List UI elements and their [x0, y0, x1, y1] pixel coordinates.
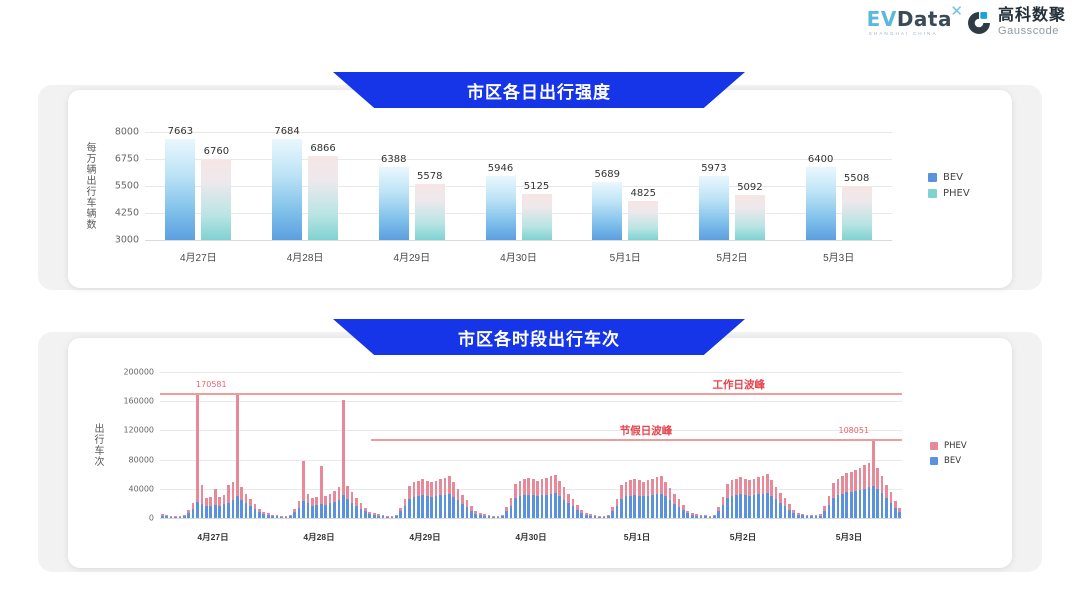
- chart-2-bar-segment-bev: [890, 503, 893, 518]
- chart-2-bar-segment-bev: [717, 511, 720, 518]
- chart-2-bar-segment-phev: [192, 503, 195, 509]
- chart-2-bar-segment-phev: [399, 508, 402, 512]
- chart-2-bar-segment-phev: [271, 515, 274, 516]
- chart-2-bar-segment-bev: [563, 500, 566, 518]
- chart-2-bar-segment-bev: [837, 495, 840, 518]
- chart-2-bar-segment-bev: [355, 506, 358, 518]
- chart-2-bar-segment-bev: [307, 503, 310, 518]
- chart-1-bar-value: 5973: [701, 163, 726, 174]
- chart-2-bar-segment-phev: [841, 476, 844, 494]
- chart-2-x-tick: 4月28日: [303, 531, 334, 543]
- chart-2-bar-segment-phev: [492, 516, 495, 517]
- chart-1-bar-bev: [592, 182, 622, 240]
- chart-2-bar-segment-phev: [850, 472, 853, 492]
- chart-1-bar-value: 6388: [381, 154, 406, 165]
- chart-2-legend-item[interactable]: BEV: [930, 456, 967, 466]
- chart-2-bar-segment-bev: [616, 506, 619, 518]
- chart-2-bar-segment-phev: [311, 498, 314, 505]
- chart-2-x-tick: 5月3日: [836, 531, 862, 543]
- chart-2-bar-segment-phev: [633, 479, 636, 495]
- chart-2-bar-segment-phev: [439, 479, 442, 495]
- chart-2-bar-segment-bev: [311, 506, 314, 518]
- chart-2-bar-segment-phev: [276, 515, 279, 516]
- chart-2-title: 市区各时段出行车次: [458, 325, 620, 350]
- chart-2-bar-segment-phev: [876, 468, 879, 489]
- chart-2-bar-segment-phev: [474, 511, 477, 514]
- chart-2-bar-segment-phev: [678, 499, 681, 506]
- chart-2-bar-segment-phev: [218, 497, 221, 506]
- chart-1-y-tick: 8000: [99, 127, 139, 138]
- chart-2-bar-segment-bev: [828, 505, 831, 518]
- chart-2-bar-segment-phev: [713, 515, 716, 516]
- chart-2-bar-segment-phev: [664, 482, 667, 497]
- gausscode-name-cn: 高科数聚: [998, 8, 1066, 24]
- chart-2-bar-segment-bev: [642, 496, 645, 518]
- chart-2-bar-segment-bev: [320, 504, 323, 518]
- chart-2-bar-segment-bev: [872, 486, 875, 518]
- chart-2-bar-segment-bev: [841, 494, 844, 518]
- chart-2-bar-segment-bev: [444, 495, 447, 518]
- chart-1-bar-bev: [165, 139, 195, 240]
- chart-2-bar-segment-phev: [545, 478, 548, 495]
- chart-2-title-banner: 市区各时段出行车次: [333, 319, 745, 355]
- chart-2-bar-segment-bev: [894, 508, 897, 518]
- chart-2-bar-segment-bev: [532, 495, 535, 518]
- chart-2-bar-segment-phev: [444, 478, 447, 495]
- chart-2-bar-segment-phev: [572, 499, 575, 507]
- chart-2-y-tick: 40000: [108, 484, 154, 493]
- chart-2-bar-segment-bev: [351, 503, 354, 518]
- chart-2-bar-segment-phev: [647, 480, 650, 496]
- chart-1-y-axis-title: 每万辆出行车辆数: [82, 128, 97, 244]
- chart-1-legend-item[interactable]: BEV: [928, 172, 970, 183]
- chart-1-bar-phev: [628, 201, 658, 240]
- chart-2-bar-segment-phev: [342, 400, 345, 496]
- chart-2-bar-segment-bev: [753, 495, 756, 518]
- chart-2-bar-segment-bev: [298, 508, 301, 518]
- chart-1-bar-bev: [486, 176, 516, 240]
- chart-2-y-tick: 0: [108, 514, 154, 523]
- chart-2-bar-segment-phev: [567, 494, 570, 504]
- chart-2-bar-segment-bev: [249, 506, 252, 518]
- chart-2-bar-segment-phev: [293, 509, 296, 513]
- chart-2-bar-segment-bev: [744, 495, 747, 518]
- chart-1-y-tick: 3000: [99, 235, 139, 246]
- chart-1-bar-value: 5946: [488, 163, 513, 174]
- chart-2-bar-segment-phev: [421, 479, 424, 495]
- chart-2-bar-segment-bev: [823, 511, 826, 518]
- chart-2-bar-segment-phev: [368, 512, 371, 514]
- chart-2-bar-segment-phev: [183, 515, 186, 516]
- chart-1-bar-bev: [379, 167, 409, 240]
- chart-2-bar-segment-bev: [448, 494, 451, 518]
- chart-2-bar-segment-phev: [770, 480, 773, 496]
- chart-2-bar-segment-phev: [823, 506, 826, 511]
- chart-2-bar-segment-phev: [638, 480, 641, 496]
- chart-2-bar-segment-phev: [744, 479, 747, 495]
- chart-2-bar-segment-phev: [726, 484, 729, 498]
- chart-1-bar-phev: [308, 156, 338, 240]
- chart-2-bar-segment-bev: [527, 495, 530, 518]
- chart-2-bar-segment-phev: [660, 476, 663, 494]
- chart-2-bar-segment-bev: [558, 496, 561, 518]
- chart-2-bar-segment-phev: [788, 504, 791, 509]
- chart-2-bar-segment-phev: [170, 516, 173, 517]
- chart-2-bar-segment-bev: [201, 504, 204, 518]
- chart-2-bar-segment-bev: [466, 507, 469, 518]
- chart-1-gridline: [145, 213, 892, 214]
- chart-2-bar-segment-bev: [554, 493, 557, 518]
- chart-2-bar-segment-phev: [629, 480, 632, 496]
- chart-2-bar-segment-bev: [523, 495, 526, 518]
- chart-2-bar-segment-phev: [258, 509, 261, 512]
- chart-1-x-tick: 5月2日: [716, 249, 747, 264]
- chart-2-bar-segment-bev: [664, 496, 667, 518]
- chart-2-bar-segment-phev: [594, 515, 597, 516]
- chart-2-bar-segment-phev: [483, 514, 486, 515]
- chart-2-bar-segment-phev: [280, 516, 283, 517]
- chart-2-bar-segment-bev: [439, 495, 442, 518]
- chart-2-bar-segment-phev: [563, 487, 566, 499]
- chart-2-bar-segment-bev: [404, 506, 407, 518]
- chart-1-bar-bev: [699, 176, 729, 240]
- chart-1-x-axis-line: [145, 240, 892, 241]
- chart-2-x-tick: 4月30日: [515, 531, 546, 543]
- chart-panel-1: 每万辆出行车辆数30004250550067508000766367604月27…: [68, 90, 1012, 288]
- chart-2-bar-segment-bev: [762, 494, 765, 518]
- chart-2-bar-segment-bev: [885, 498, 888, 518]
- chart-2-bar-segment-phev: [656, 477, 659, 494]
- chart-2-bar-segment-phev: [576, 505, 579, 510]
- chart-2-legend-swatch-phev: [930, 442, 938, 450]
- chart-2-bar-segment-phev: [302, 461, 305, 501]
- chart-2-bar-segment-phev: [377, 514, 380, 515]
- gausscode-mark-icon: [966, 10, 992, 36]
- weekday-peak-line: [160, 393, 902, 395]
- hourly-trip-counts-chart: 出行车次040000800001200001600002000004月27日4月…: [68, 338, 1012, 568]
- chart-2-x-tick: 5月2日: [730, 531, 756, 543]
- chart-2-bar-segment-bev: [766, 493, 769, 518]
- chart-1-y-tick: 4250: [99, 208, 139, 219]
- gausscode-text: 高科数聚 Gausscode: [998, 8, 1066, 37]
- chart-2-bar-segment-bev: [240, 500, 243, 518]
- chart-2-bar-segment-phev: [739, 477, 742, 494]
- chart-2-bar-segment-bev: [510, 506, 513, 518]
- chart-2-bar-segment-bev: [214, 505, 217, 518]
- chart-2-bar-segment-bev: [572, 506, 575, 518]
- chart-2-bar-segment-bev: [876, 489, 879, 518]
- chart-2-bar-segment-phev: [532, 479, 535, 495]
- chart-2-bar-segment-phev: [373, 513, 376, 515]
- chart-2-bar-segment-phev: [691, 513, 694, 515]
- chart-2-bar-segment-bev: [435, 496, 438, 518]
- chart-2-bar-segment-phev: [806, 515, 809, 516]
- chart-2-bar-segment-bev: [859, 490, 862, 518]
- chart-2-bar-segment-bev: [205, 506, 208, 518]
- chart-2-bar-segment-phev: [890, 492, 893, 502]
- chart-2-bar-segment-phev: [642, 482, 645, 497]
- chart-2-bar-segment-phev: [333, 491, 336, 502]
- chart-2-bar-segment-phev: [262, 512, 265, 514]
- chart-2-y-axis-title: 出行车次: [90, 378, 105, 512]
- chart-2-bar-segment-bev: [731, 496, 734, 518]
- chart-2-bar-segment-phev: [245, 494, 248, 503]
- chart-2-bar-segment-bev: [360, 509, 363, 518]
- chart-2-bar-segment-bev: [324, 505, 327, 518]
- chart-2-bar-segment-bev: [254, 509, 257, 518]
- chart-2-bar-segment-phev: [457, 489, 460, 501]
- chart-2-bar-segment-phev: [859, 468, 862, 490]
- chart-2-bar-segment-phev: [448, 476, 451, 494]
- chart-2-bar-segment-phev: [598, 516, 601, 517]
- chart-1-legend-item[interactable]: PHEV: [928, 188, 970, 199]
- chart-2-bar-segment-bev: [430, 497, 433, 518]
- brand-logo-bar: EVData ✕ SHANGHAI CHINA 高科数聚 Gausscode: [867, 8, 1066, 37]
- chart-2-bar-segment-phev: [894, 501, 897, 508]
- chart-1-x-tick: 4月28日: [287, 249, 324, 264]
- chart-2-bar-segment-bev: [567, 503, 570, 518]
- chart-2-bar-segment-phev: [863, 465, 866, 488]
- chart-2-bar-segment-bev: [408, 499, 411, 518]
- chart-2-bar-segment-phev: [430, 482, 433, 497]
- chart-2-bar-segment-phev: [201, 485, 204, 504]
- chart-2-bar-segment-phev: [753, 479, 756, 495]
- gausscode-name-en: Gausscode: [998, 26, 1066, 37]
- chart-2-bar-segment-phev: [351, 492, 354, 502]
- chart-2-bar-segment-phev: [695, 514, 698, 516]
- chart-2-bar-segment-bev: [536, 496, 539, 518]
- chart-2-bar-segment-bev: [196, 502, 199, 518]
- chart-2-bar-segment-phev: [488, 515, 491, 516]
- chart-2-bar-segment-bev: [329, 503, 332, 518]
- chart-2-bar-segment-bev: [236, 496, 239, 518]
- chart-2-bar-segment-phev: [828, 496, 831, 504]
- chart-2-bar-segment-phev: [324, 496, 327, 505]
- chart-1-legend-swatch-bev: [928, 173, 937, 182]
- chart-2-bar-segment-phev: [554, 475, 557, 493]
- chart-1-bar-phev: [201, 159, 231, 240]
- chart-2-legend-swatch-bev: [930, 457, 938, 465]
- chart-1-legend-label: PHEV: [943, 188, 970, 199]
- chart-1-bar-value: 5092: [737, 182, 762, 193]
- chart-2-bar-segment-phev: [285, 516, 288, 517]
- chart-2-bar-segment-phev: [461, 495, 464, 504]
- chart-1-title-banner: 市区各日出行强度: [333, 72, 745, 108]
- chart-2-bar-segment-bev: [682, 510, 685, 518]
- chart-panel-2: 出行车次040000800001200001600002000004月27日4月…: [68, 338, 1012, 568]
- chart-2-bar-segment-phev: [289, 515, 292, 516]
- chart-2-bar-segment-bev: [452, 497, 455, 518]
- gausscode-logo: 高科数聚 Gausscode: [966, 8, 1066, 37]
- chart-2-bar-segment-bev: [457, 500, 460, 518]
- chart-2-bar-segment-phev: [497, 516, 500, 517]
- chart-2-bar-segment-bev: [338, 500, 341, 518]
- chart-2-bar-segment-phev: [881, 476, 884, 493]
- chart-2-y-tick: 120000: [108, 426, 154, 435]
- chart-2-bar-segment-phev: [700, 515, 703, 516]
- chart-2-bar-segment-phev: [298, 501, 301, 508]
- holiday-peak-label: 节假日波峰: [620, 423, 673, 438]
- chart-2-bar-segment-phev: [669, 488, 672, 500]
- chart-2-bar-segment-phev: [479, 513, 482, 515]
- chart-2-bar-segment-phev: [452, 482, 455, 497]
- chart-2-bar-segment-phev: [329, 494, 332, 503]
- chart-1-legend-label: BEV: [943, 172, 963, 183]
- chart-2-bar-segment-bev: [413, 497, 416, 518]
- chart-2-bar-segment-phev: [236, 394, 239, 496]
- chart-1-y-tick: 6750: [99, 154, 139, 165]
- chart-2-bar-segment-bev: [638, 496, 641, 518]
- chart-2-bar-segment-phev: [810, 515, 813, 516]
- chart-2-bar-segment-phev: [523, 479, 526, 495]
- holiday-peak-line: [371, 439, 902, 441]
- chart-2-bar-segment-phev: [527, 478, 530, 495]
- chart-2-bar-segment-bev: [629, 496, 632, 518]
- chart-2-bar-segment-phev: [391, 516, 394, 517]
- chart-1-bar-bev: [272, 139, 302, 240]
- chart-1-gridline: [145, 132, 892, 133]
- chart-2-bar-segment-phev: [898, 508, 901, 512]
- chart-2-bar-segment-bev: [245, 503, 248, 518]
- chart-2-x-tick: 4月27日: [197, 531, 228, 543]
- chart-2-bar-segment-phev: [651, 479, 654, 495]
- chart-2-bar-segment-phev: [801, 514, 804, 516]
- chart-2-bar-segment-phev: [382, 515, 385, 516]
- evdata-letter-e: E: [867, 7, 881, 31]
- chart-2-bar-segment-bev: [192, 509, 195, 518]
- chart-2-bar-segment-bev: [788, 510, 791, 518]
- chart-2-bar-segment-bev: [505, 511, 508, 518]
- chart-1-bar-phev: [842, 186, 872, 240]
- chart-1-bar-value: 6400: [808, 154, 833, 165]
- chart-2-bar-segment-phev: [320, 466, 323, 504]
- chart-2-bar-segment-bev: [678, 507, 681, 518]
- chart-1-bar-value: 4825: [630, 188, 655, 199]
- chart-2-bar-segment-phev: [682, 505, 685, 510]
- chart-2-bar-segment-bev: [748, 496, 751, 518]
- chart-1-y-tick: 5500: [99, 181, 139, 192]
- chart-2-bar-segment-bev: [218, 506, 221, 518]
- chart-1-x-tick: 4月29日: [393, 249, 430, 264]
- chart-2-bar-segment-phev: [435, 481, 438, 496]
- chart-2-bar-segment-phev: [558, 481, 561, 496]
- chart-2-bar-segment-phev: [360, 503, 363, 509]
- chart-2-bar-segment-phev: [766, 474, 769, 493]
- chart-2-bar-segment-bev: [223, 504, 226, 518]
- chart-2-bar-segment-phev: [395, 515, 398, 516]
- chart-2-bar-segment-phev: [797, 513, 800, 515]
- chart-1-bar-phev: [522, 194, 552, 240]
- chart-2-bar-segment-phev: [386, 516, 389, 517]
- chart-1-bar-value: 7663: [168, 126, 193, 137]
- chart-2-bar-segment-bev: [470, 511, 473, 518]
- chart-2-y-tick: 160000: [108, 397, 154, 406]
- chart-2-bar-segment-phev: [673, 494, 676, 504]
- chart-2-bar-segment-bev: [845, 492, 848, 518]
- chart-1-bar-value: 6760: [204, 146, 229, 157]
- chart-1-bar-bev: [806, 167, 836, 240]
- chart-2-bar-segment-bev: [550, 494, 553, 518]
- chart-2-bar-segment-phev: [686, 511, 689, 514]
- chart-2-bar-segment-bev: [673, 504, 676, 518]
- chart-2-bar-segment-phev: [209, 497, 212, 505]
- chart-2-bar-segment-phev: [417, 481, 420, 496]
- chart-2-bar-segment-bev: [302, 501, 305, 518]
- evdata-tagline: SHANGHAI CHINA: [869, 31, 938, 36]
- chart-2-bar-segment-bev: [421, 495, 424, 518]
- chart-2-bar-segment-phev: [232, 482, 235, 501]
- chart-2-bar-segment-phev: [589, 514, 592, 515]
- chart-2-bar-segment-phev: [616, 499, 619, 506]
- chart-2-bar-segment-phev: [315, 497, 318, 505]
- chart-1-bar-value: 7684: [274, 126, 299, 137]
- evdata-letter-rest: Data: [897, 7, 952, 31]
- chart-1-gridline: [145, 186, 892, 187]
- chart-2-bar-segment-phev: [607, 515, 610, 516]
- chart-2-bar-segment-bev: [757, 494, 760, 518]
- chart-2-bar-segment-phev: [249, 499, 252, 506]
- chart-2-bar-segment-phev: [413, 482, 416, 497]
- chart-2-bar-segment-phev: [470, 506, 473, 511]
- chart-2-bar-segment-phev: [404, 499, 407, 506]
- chart-2-bar-segment-phev: [267, 513, 270, 515]
- chart-2-bar-segment-phev: [346, 486, 349, 499]
- chart-2-bar-segment-phev: [338, 487, 341, 499]
- chart-2-bar-segment-bev: [779, 503, 782, 518]
- chart-2-legend-item[interactable]: PHEV: [930, 441, 967, 451]
- chart-2-bar-segment-phev: [585, 513, 588, 515]
- chart-2-x-axis-line: [160, 518, 902, 519]
- chart-1-gridline: [145, 159, 892, 160]
- chart-2-bar-segment-phev: [735, 479, 738, 495]
- chart-2-bar-segment-phev: [254, 504, 257, 509]
- chart-2-bar-segment-phev: [165, 515, 168, 516]
- chart-2-bar-segment-phev: [762, 476, 765, 494]
- chart-2-bar-segment-bev: [656, 494, 659, 518]
- chart-2-bar-segment-phev: [227, 485, 230, 503]
- chart-2-bar-segment-phev: [757, 477, 760, 494]
- weekday-peak-value: 170581: [196, 380, 227, 389]
- chart-2-bar-segment-phev: [501, 515, 504, 516]
- chart-2-bar-segment-phev: [514, 484, 517, 498]
- chart-2-bar-segment-phev: [214, 489, 217, 505]
- chart-2-bar-segment-phev: [466, 500, 469, 507]
- chart-1-legend-swatch-phev: [928, 189, 937, 198]
- chart-2-bar-segment-phev: [845, 473, 848, 492]
- chart-2-bar-segment-phev: [240, 487, 243, 499]
- dashboard-page: EVData ✕ SHANGHAI CHINA 高科数聚 Gausscode 每…: [0, 0, 1080, 608]
- chart-2-bar-segment-bev: [669, 500, 672, 518]
- chart-2-bar-segment-phev: [709, 516, 712, 517]
- chart-2-bar-segment-bev: [726, 498, 729, 518]
- chart-2-bar-segment-phev: [205, 498, 208, 506]
- chart-2-bar-segment-bev: [426, 496, 429, 518]
- chart-2-bar-segment-phev: [541, 479, 544, 495]
- chart-2-bar-segment-bev: [784, 506, 787, 518]
- chart-2-bar-segment-phev: [519, 481, 522, 496]
- chart-2-bar-segment-bev: [346, 499, 349, 518]
- chart-2-legend: PHEVBEV: [930, 441, 967, 466]
- chart-1-bar-value: 6866: [310, 143, 335, 154]
- chart-2-y-tick: 200000: [108, 368, 154, 377]
- chart-2-bar-segment-phev: [625, 482, 628, 497]
- chart-2-bar-segment-phev: [731, 480, 734, 496]
- chart-2-bar-segment-phev: [748, 480, 751, 496]
- chart-2-bar-segment-phev: [885, 485, 888, 498]
- chart-2-bar-segment-phev: [792, 510, 795, 513]
- chart-2-bar-segment-phev: [355, 498, 358, 506]
- chart-1-bar-phev: [735, 195, 765, 240]
